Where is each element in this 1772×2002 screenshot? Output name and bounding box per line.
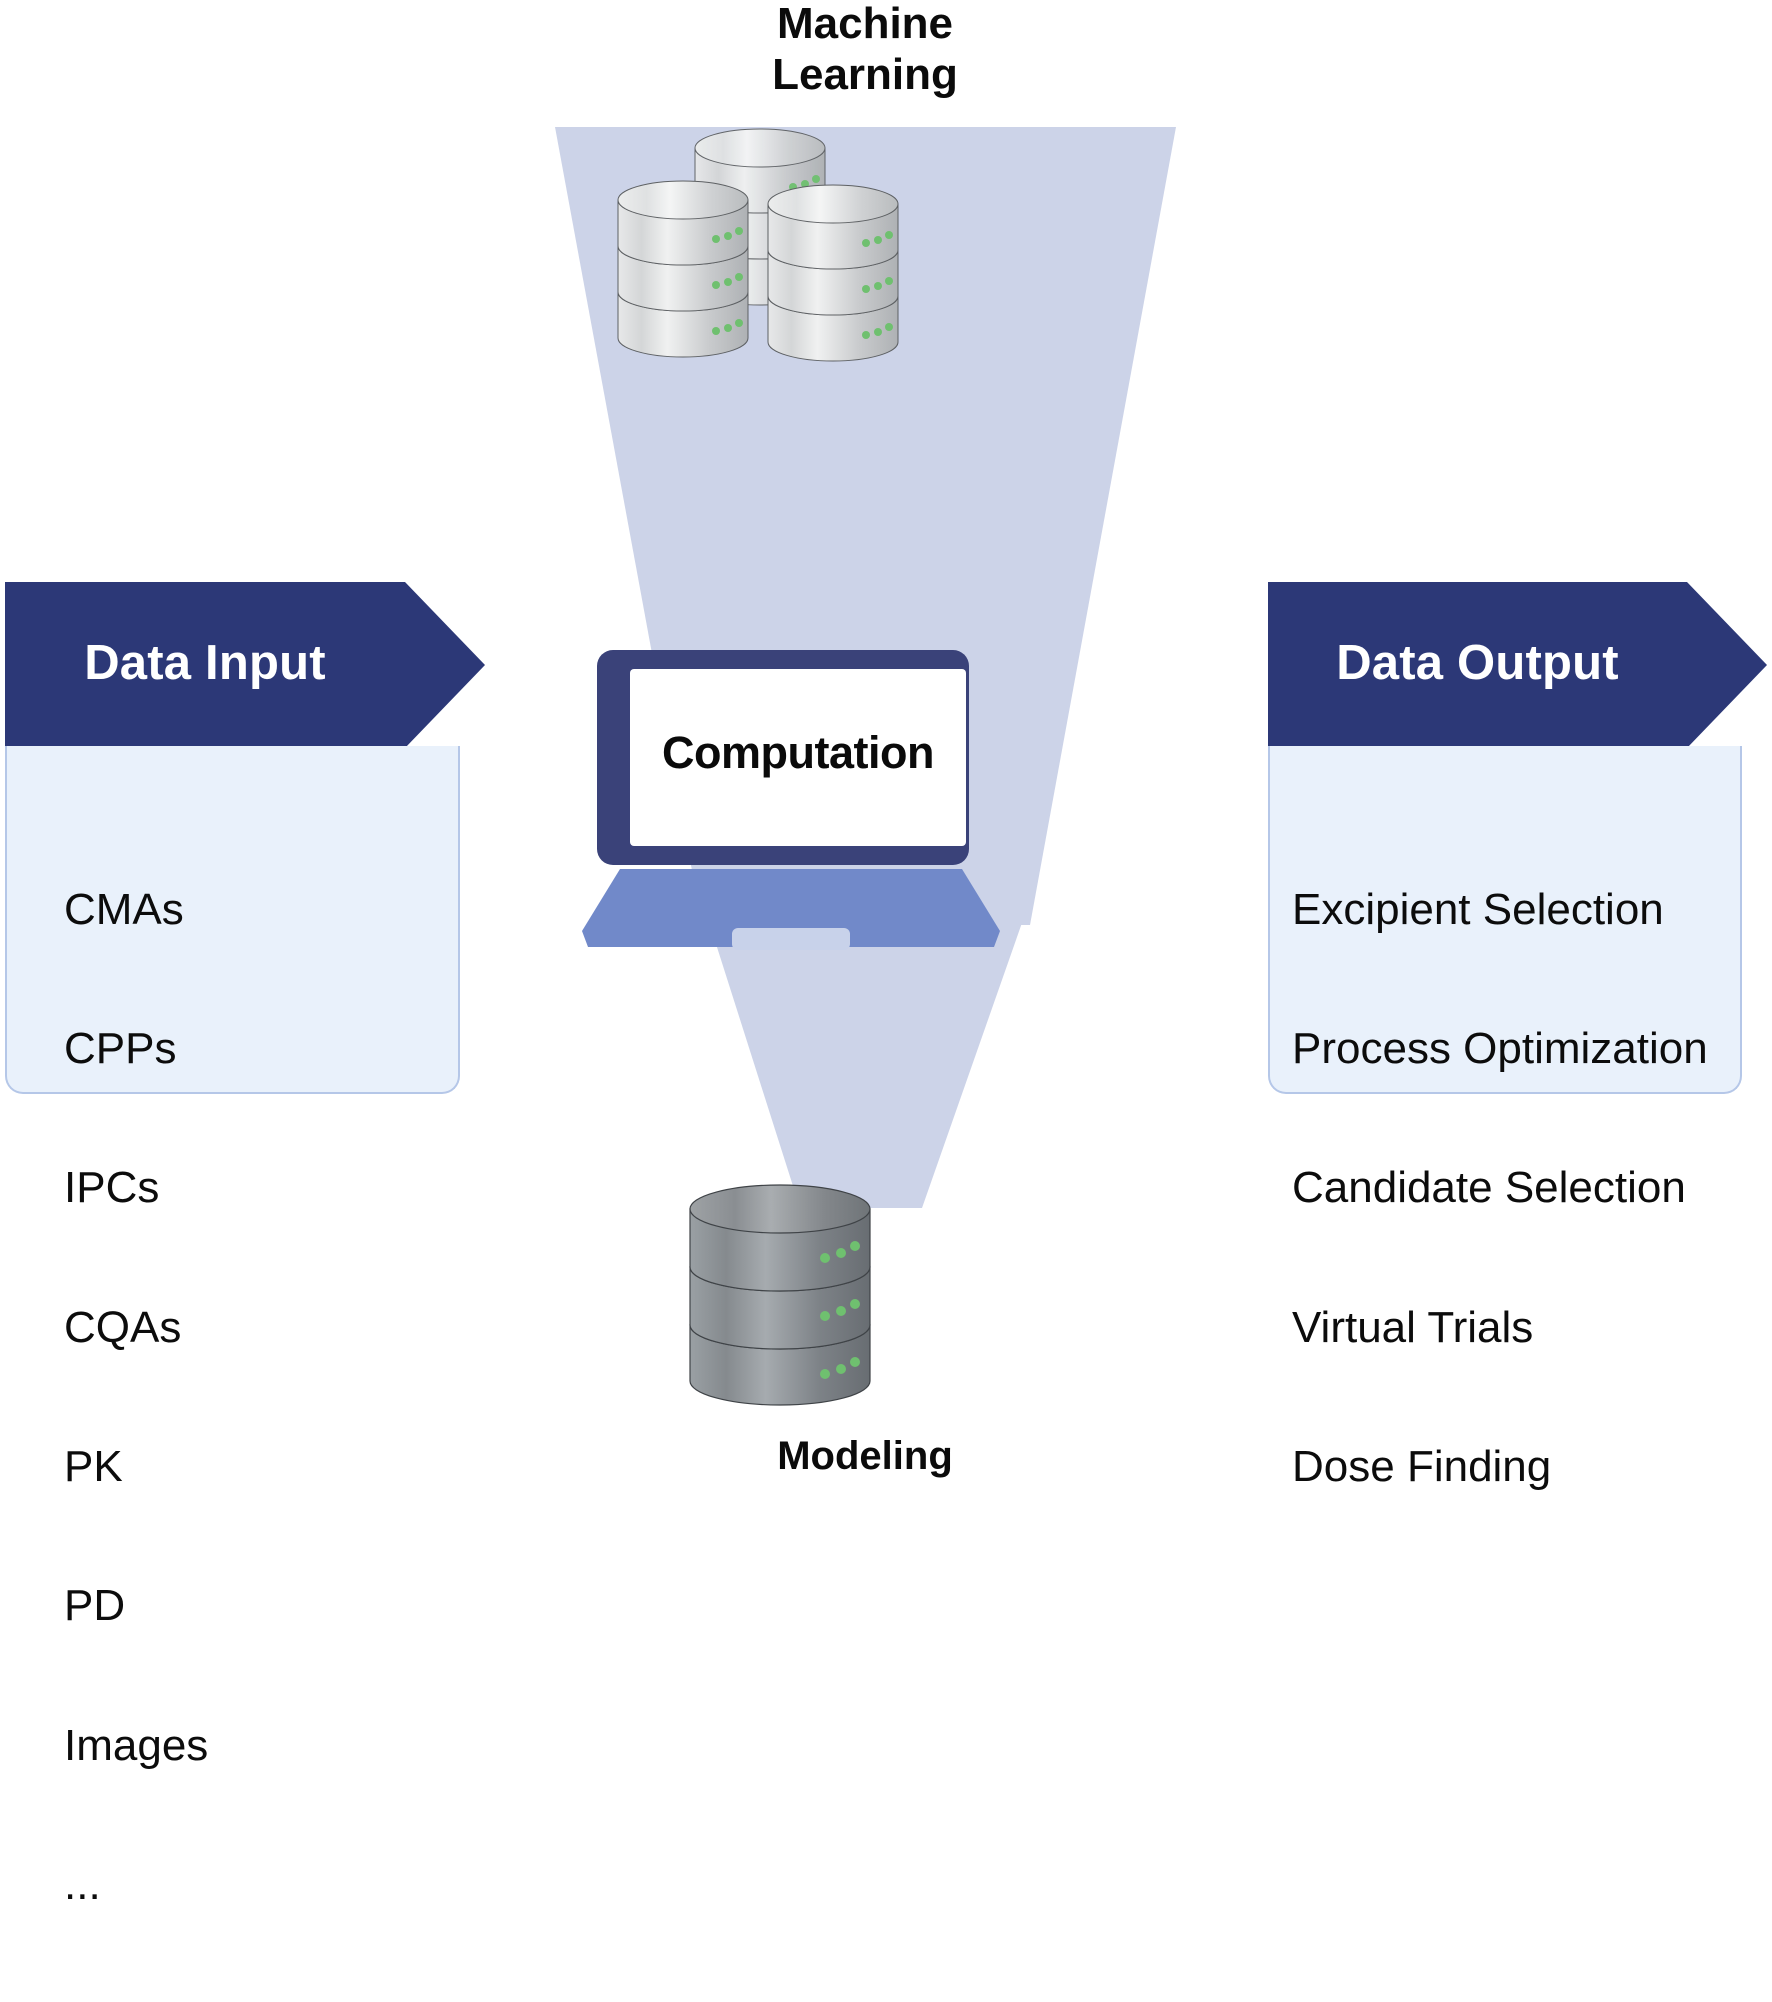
machine-learning-label: Machine Learning <box>470 0 1260 100</box>
list-item: Images <box>64 1723 208 1770</box>
data-input-banner: Data Input <box>5 582 485 748</box>
list-item: Virtual Trials <box>1292 1305 1708 1352</box>
list-item: PD <box>64 1583 208 1630</box>
modeling-label: Modeling <box>470 1434 1260 1479</box>
list-item: Process Optimization <box>1292 1026 1708 1073</box>
computation-label: Computation <box>630 727 966 779</box>
list-item: Excipient Selection <box>1292 887 1708 934</box>
data-input-banner-label: Data Input <box>84 635 326 695</box>
list-item: Candidate Selection <box>1292 1165 1708 1212</box>
data-input-panel: Data Input CMAs CPPs IPCs CQAs PK PD Ima… <box>5 582 485 1094</box>
laptop-lid: Computation <box>597 650 969 865</box>
laptop-trackpad <box>732 928 850 950</box>
laptop-screen: Computation <box>630 669 966 846</box>
list-item: IPCs <box>64 1165 208 1212</box>
list-item: CPPs <box>64 1026 208 1073</box>
data-output-list: Excipient Selection Process Optimization… <box>1292 794 1708 1583</box>
list-item: CQAs <box>64 1305 208 1352</box>
list-item: PK <box>64 1444 208 1491</box>
diagram-canvas: Data Input CMAs CPPs IPCs CQAs PK PD Ima… <box>0 0 1772 1495</box>
data-output-banner: Data Output <box>1268 582 1767 748</box>
database-stack-icon <box>685 1175 875 1425</box>
data-output-banner-label: Data Output <box>1336 635 1619 695</box>
data-output-panel: Data Output Excipient Selection Process … <box>1268 582 1767 1094</box>
list-item: CMAs <box>64 887 208 934</box>
machine-learning-label-line2: Learning <box>470 49 1260 100</box>
laptop-icon: Computation <box>582 650 1000 920</box>
data-input-list: CMAs CPPs IPCs CQAs PK PD Images ... <box>64 794 208 2001</box>
server-cluster-icon <box>570 100 950 400</box>
data-output-body: Excipient Selection Process Optimization… <box>1268 746 1742 1094</box>
list-item: Dose Finding <box>1292 1444 1708 1491</box>
list-item: ... <box>64 1862 208 1909</box>
data-input-body: CMAs CPPs IPCs CQAs PK PD Images ... <box>5 746 460 1094</box>
center-column: Machine Learning <box>470 0 1260 1495</box>
machine-learning-label-line1: Machine <box>470 0 1260 49</box>
